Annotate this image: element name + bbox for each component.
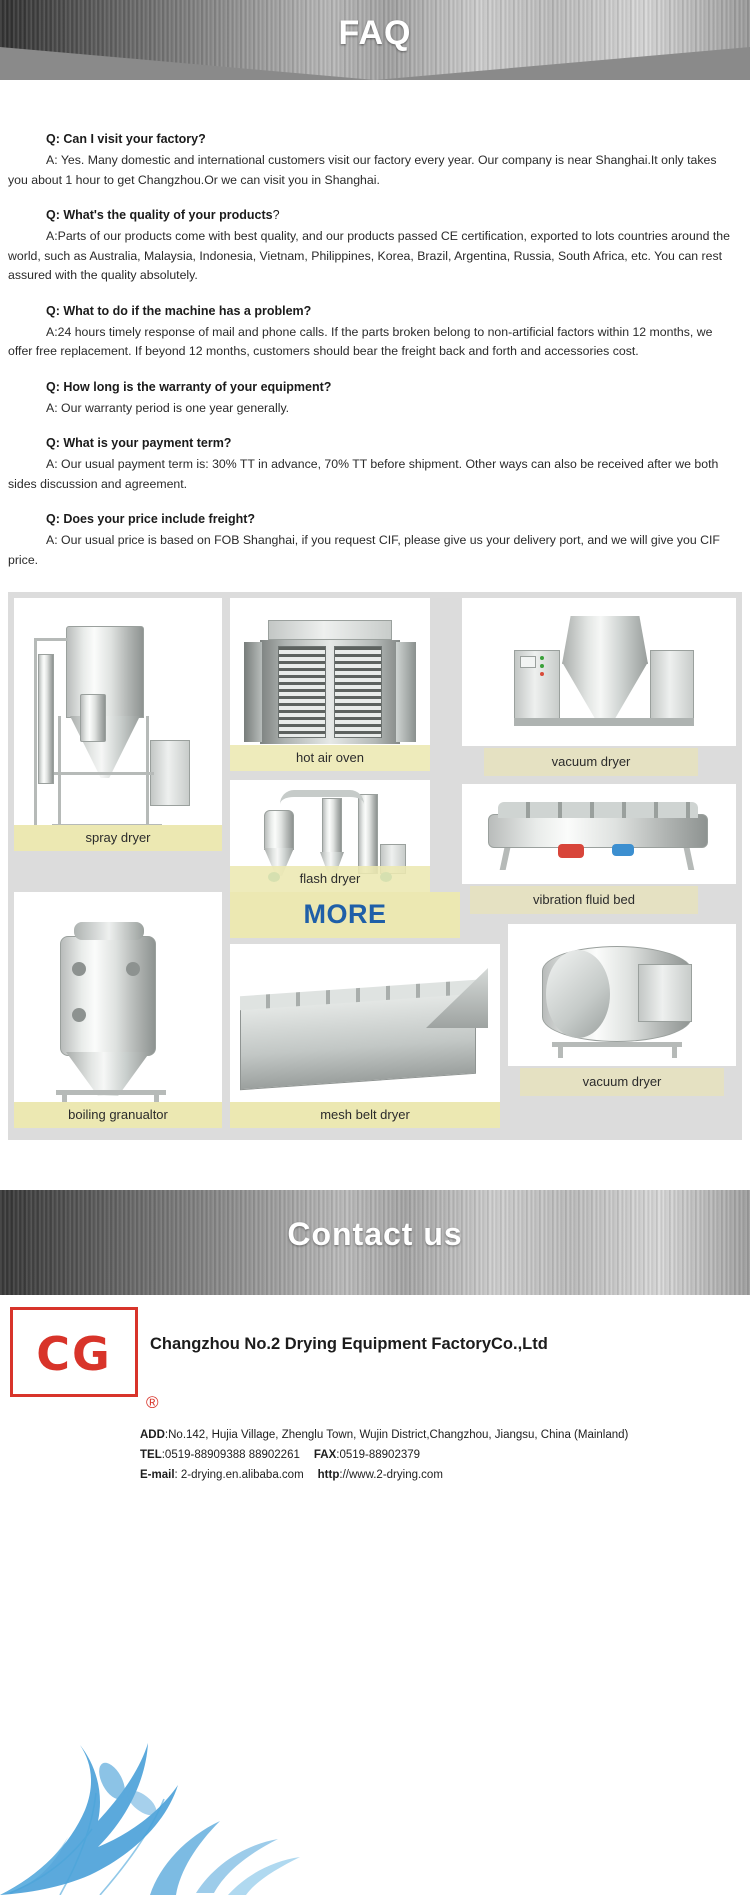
- website-value[interactable]: ://www.2-drying.com: [339, 1469, 443, 1481]
- tel-label: TEL: [140, 1449, 162, 1461]
- faq-question: Q: What's the quality of your products?: [8, 206, 736, 224]
- faq-header-banner: FAQ: [0, 0, 750, 80]
- faq-answer: A:24 hours timely response of mail and p…: [8, 323, 736, 362]
- contact-details: ADD:No.142, Hujia Village, Zhenglu Town,…: [140, 1425, 740, 1485]
- fax-label: FAX: [314, 1449, 336, 1461]
- gallery-tile-vibration-fluid-bed[interactable]: [446, 784, 736, 884]
- gallery-tile-spray-dryer[interactable]: spray dryer: [14, 598, 222, 851]
- faq-question-mark: ?: [273, 208, 280, 222]
- faq-question-text: Q: What's the quality of your products: [46, 208, 273, 222]
- address-line: ADD:No.142, Hujia Village, Zhenglu Town,…: [140, 1425, 740, 1445]
- gallery-caption: flash dryer: [230, 866, 430, 892]
- gallery-caption-vacuum-dryer-top: vacuum dryer: [484, 748, 698, 776]
- floral-decoration: [0, 1725, 750, 1895]
- faq-item: Q: Can I visit your factory? A: Yes. Man…: [8, 130, 736, 190]
- faq-item: Q: What's the quality of your products? …: [8, 206, 736, 286]
- faq-answer: A:Parts of our products come with best q…: [8, 227, 736, 286]
- gallery-caption: mesh belt dryer: [230, 1102, 500, 1128]
- contact-title: Contact us: [0, 1216, 750, 1253]
- faq-answer: A: Our usual price is based on FOB Shang…: [8, 531, 736, 570]
- faq-list: Q: Can I visit your factory? A: Yes. Man…: [0, 130, 750, 586]
- website-label: http: [318, 1469, 340, 1481]
- page-title: FAQ: [0, 14, 750, 53]
- gallery-tile-flash-dryer[interactable]: flash dryer: [230, 780, 430, 892]
- footer: CG ® Changzhou No.2 Drying Equipment Fac…: [0, 1295, 750, 1895]
- faq-item: Q: Does your price include freight? A: O…: [8, 510, 736, 570]
- gallery-caption: spray dryer: [14, 825, 222, 851]
- tel-value: :0519-88909388 88902261: [162, 1449, 300, 1461]
- product-photo-mesh-belt-dryer: [230, 944, 500, 1128]
- gallery-caption-vacuum-dryer-bottom: vacuum dryer: [520, 1068, 724, 1096]
- company-name: Changzhou No.2 Drying Equipment FactoryC…: [150, 1335, 740, 1354]
- product-photo-vacuum-dryer: [462, 598, 736, 746]
- faq-question: Q: Does your price include freight?: [8, 510, 736, 528]
- faq-answer: A: Our warranty period is one year gener…: [8, 399, 736, 419]
- faq-item: Q: What to do if the machine has a probl…: [8, 302, 736, 362]
- gallery-tile-hot-air-oven[interactable]: hot air oven: [230, 598, 430, 771]
- logo-text: CG: [18, 1315, 130, 1389]
- faq-answer: A: Yes. Many domestic and international …: [8, 151, 736, 190]
- faq-question: Q: How long is the warranty of your equi…: [8, 378, 736, 396]
- registered-trademark-icon: ®: [146, 1393, 159, 1413]
- gallery-tile-vacuum-dryer-top[interactable]: [446, 598, 736, 746]
- product-photo-boiling-granualtor: [14, 892, 222, 1128]
- gallery-tile-boiling-granualtor[interactable]: boiling granualtor: [14, 892, 222, 1128]
- company-logo: CG: [10, 1307, 138, 1397]
- address-label: ADD: [140, 1429, 165, 1441]
- faq-answer: A: Our usual payment term is: 30% TT in …: [8, 455, 736, 494]
- phone-line: TEL:0519-88909388 88902261FAX:0519-88902…: [140, 1445, 740, 1465]
- faq-question: Q: Can I visit your factory?: [8, 130, 736, 148]
- gallery-caption: hot air oven: [230, 745, 430, 771]
- email-line: E-mail: 2-drying.en.alibaba.comhttp://ww…: [140, 1465, 740, 1485]
- product-photo-vacuum-dryer-bottom: [508, 924, 736, 1066]
- product-gallery: spray dryer hot air oven vacuum dryer: [8, 592, 742, 1140]
- email-value[interactable]: : 2-drying.en.alibaba.com: [175, 1469, 304, 1481]
- product-photo-spray-dryer: [14, 598, 222, 851]
- faq-question: Q: What is your payment term?: [8, 434, 736, 452]
- gallery-caption-vibration-fluid-bed: vibration fluid bed: [470, 886, 698, 914]
- gallery-tile-vacuum-dryer-bottom[interactable]: [508, 924, 736, 1066]
- address-value: :No.142, Hujia Village, Zhenglu Town, Wu…: [165, 1429, 628, 1441]
- fax-value: :0519-88902379: [336, 1449, 420, 1461]
- contact-header-banner: Contact us: [0, 1190, 750, 1295]
- gallery-tile-mesh-belt-dryer[interactable]: mesh belt dryer: [230, 944, 500, 1128]
- more-products-banner[interactable]: MORE PRODUCTS: [230, 892, 460, 938]
- product-photo-vibration-fluid-bed: [462, 784, 736, 884]
- faq-question: Q: What to do if the machine has a probl…: [8, 302, 736, 320]
- email-label: E-mail: [140, 1469, 175, 1481]
- faq-item: Q: What is your payment term? A: Our usu…: [8, 434, 736, 494]
- faq-item: Q: How long is the warranty of your equi…: [8, 378, 736, 419]
- gallery-caption: boiling granualtor: [14, 1102, 222, 1128]
